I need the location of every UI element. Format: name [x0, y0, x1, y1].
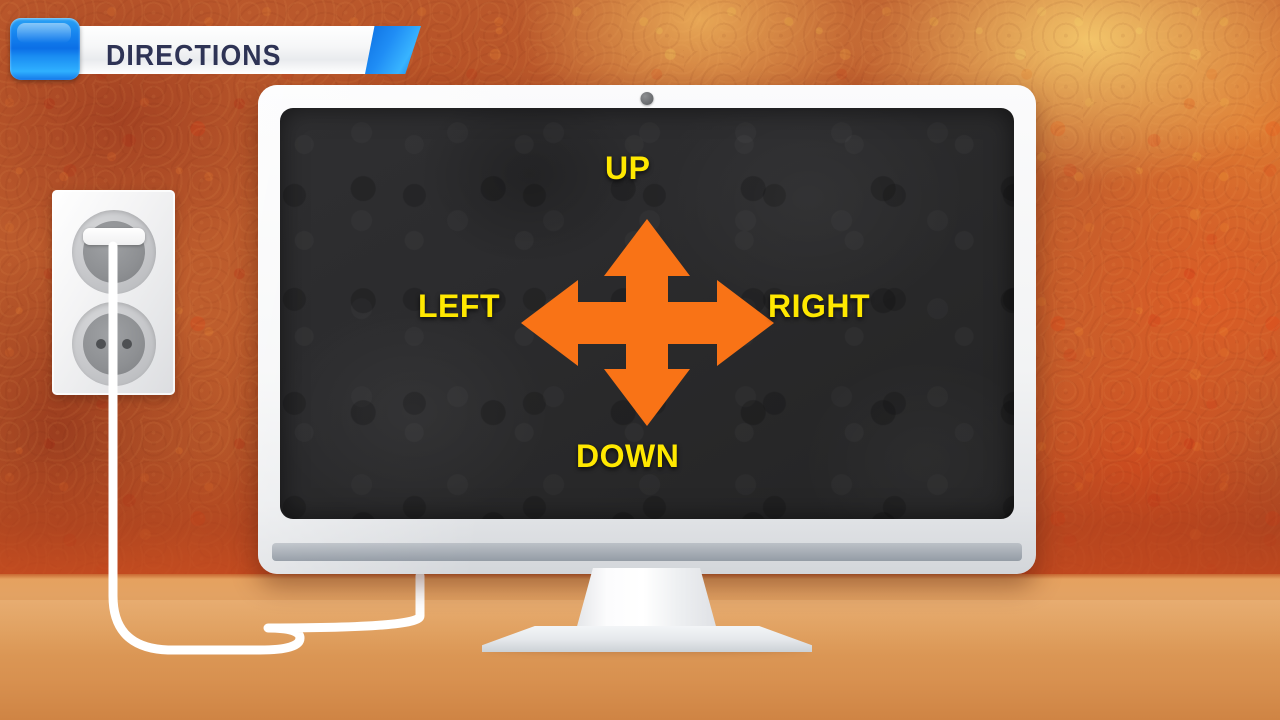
power-plug [83, 228, 145, 245]
wall-outlet [52, 190, 175, 395]
arrow-right-icon[interactable] [667, 280, 774, 366]
monitor-chin-shadow [272, 543, 1022, 561]
banner-blue-square-icon [10, 18, 80, 80]
monitor-stand-base [482, 626, 812, 652]
label-up: UP [605, 150, 650, 187]
scene-root: UP RIGHT DOWN LEFT DIRECTIONS [0, 0, 1280, 720]
banner-title-text: DIRECTIONS [106, 40, 282, 73]
outlet-socket-bottom [72, 302, 156, 386]
monitor-stand-neck [576, 568, 717, 630]
label-left: LEFT [418, 288, 500, 325]
webcam-icon [641, 92, 654, 105]
label-right: RIGHT [768, 288, 870, 325]
outlet-pin-right [122, 339, 132, 349]
arrow-left-icon[interactable] [521, 280, 628, 366]
label-down: DOWN [576, 438, 679, 475]
outlet-socket-bottom-inner [83, 313, 145, 375]
outlet-pin-left [96, 339, 106, 349]
outlet-socket-top [72, 210, 156, 294]
